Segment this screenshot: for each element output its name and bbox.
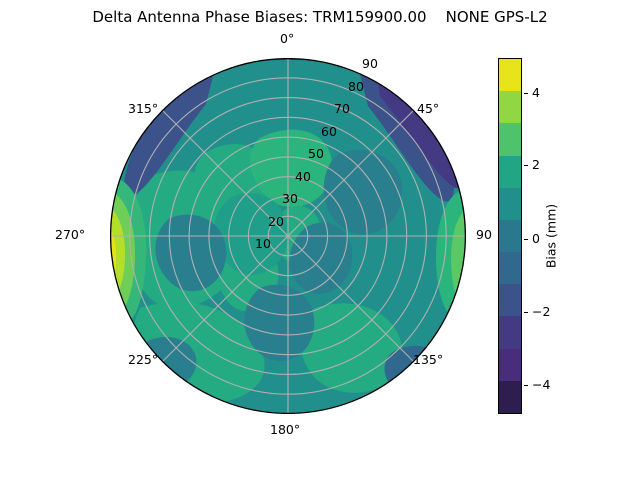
radial-label-70: 70 — [334, 103, 350, 116]
azimuth-label-45: 45° — [417, 103, 439, 116]
colorbar-band-1 — [499, 91, 521, 123]
radial-label-40: 40 — [295, 171, 311, 184]
colorbar-ticklabel-0: 0 — [532, 233, 540, 246]
radial-label-90: 90 — [362, 58, 378, 71]
colorbar-ticklabel-2: 2 — [532, 159, 540, 172]
page-title: Delta Antenna Phase Biases: TRM159900.00… — [0, 8, 640, 26]
azimuth-label-270: 270° — [55, 229, 85, 242]
colorbar-axes[interactable] — [498, 58, 522, 414]
radial-label-50: 50 — [308, 148, 324, 161]
colorbar-band-0 — [499, 59, 521, 91]
colorbar-tick-n4 — [524, 385, 528, 386]
colorbar-band-3 — [499, 156, 521, 188]
colorbar-tick-2 — [524, 165, 528, 166]
polar-plot-axes[interactable]: 0° 45° 90 135° 180° 225° 270° 315° 90 80… — [110, 58, 466, 414]
azimuth-label-225: 225° — [128, 354, 158, 367]
colorbar-band-6 — [499, 252, 521, 284]
azimuth-label-0: 0° — [280, 33, 294, 46]
figure-canvas: Delta Antenna Phase Biases: TRM159900.00… — [0, 0, 640, 480]
colorbar-band-9 — [499, 349, 521, 381]
radial-label-10: 10 — [255, 238, 271, 251]
azimuth-label-315: 315° — [128, 103, 158, 116]
azimuth-label-135: 135° — [413, 354, 443, 367]
colorbar-tick-4 — [524, 93, 528, 94]
colorbar-band-4 — [499, 188, 521, 220]
colorbar-ticklabel-n4: −4 — [532, 379, 550, 392]
colorbar-axis-label: Bias (mm) — [544, 204, 559, 268]
colorbar-band-2 — [499, 123, 521, 155]
radial-label-80: 80 — [348, 81, 364, 94]
colorbar-ticklabel-n2: −2 — [532, 306, 550, 319]
colorbar-tick-n2 — [524, 312, 528, 313]
colorbar-gradient — [498, 58, 522, 414]
colorbar-band-10 — [499, 381, 521, 413]
azimuth-label-180: 180° — [270, 424, 300, 437]
radial-label-30: 30 — [282, 193, 298, 206]
azimuth-label-90: 90 — [476, 229, 492, 242]
radial-label-20: 20 — [268, 216, 284, 229]
colorbar-band-5 — [499, 220, 521, 252]
colorbar-band-8 — [499, 316, 521, 348]
radial-label-60: 60 — [321, 126, 337, 139]
colorbar-ticklabel-4: 4 — [532, 87, 540, 100]
colorbar-tick-0 — [524, 239, 528, 240]
colorbar-band-7 — [499, 284, 521, 316]
